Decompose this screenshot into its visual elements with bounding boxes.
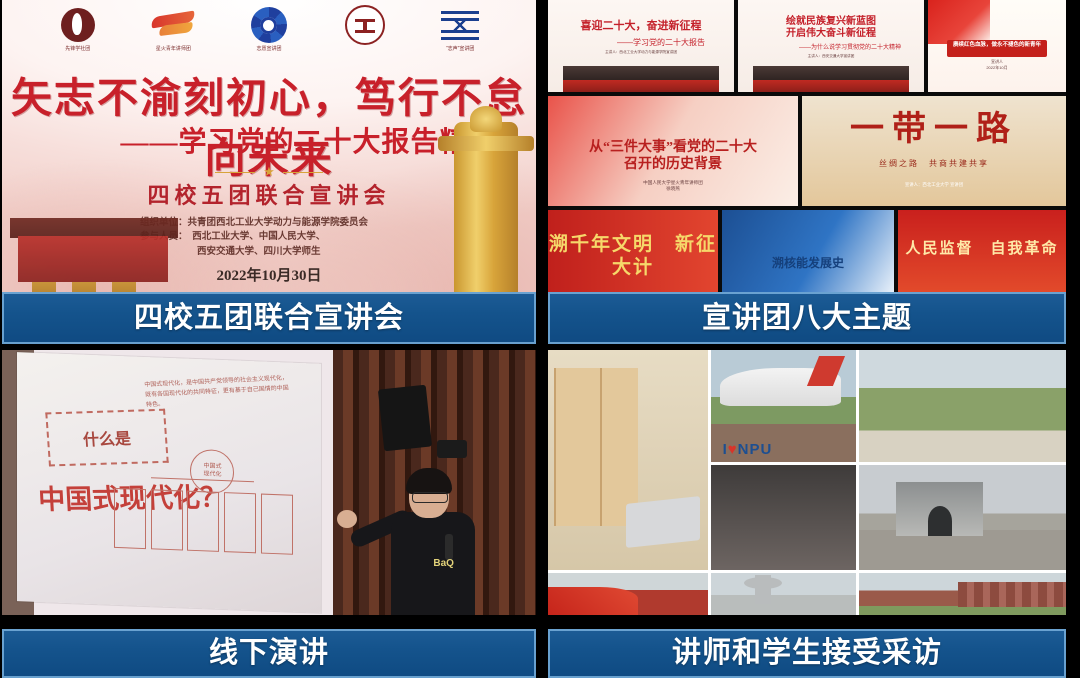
slide-branch-2 <box>151 489 183 550</box>
eight-themes-collage: 喜迎二十大，奋进新征程 ——学习党的二十大报告 主讲人：西北工业大学动力与能源学… <box>548 0 1066 292</box>
slide-branch-3 <box>187 491 219 552</box>
theme-card-3: 赓续红色血脉，做永不褪色的新青年 宣讲人 2022年10月 <box>928 0 1066 92</box>
monument <box>755 575 771 604</box>
theme-card-1: 喜迎二十大，奋进新征程 ——学习党的二十大报告 主讲人：西北工业大学动力与能源学… <box>548 0 734 92</box>
offline-lecture-photo: 什么是 中国式现代化？ 中国式现代化，是中国共产党领导的社会主义现代化，既有各国… <box>2 350 536 615</box>
photo-student-interview-missile <box>859 350 1066 462</box>
interview-photo-collage: I♥NPU <box>548 350 1066 615</box>
panel-bottom-right[interactable]: I♥NPU <box>548 350 1066 678</box>
caption-bar-bottom-right: 讲师和学生接受采访 <box>548 629 1066 678</box>
theme-card-5: 一带一路 丝绸之路 共商共建共享 宣讲人：西北工业大学 宣讲团 <box>802 96 1066 206</box>
logo-renmin-university: 星火青年讲师团 <box>136 6 210 52</box>
slide-tag: 什么是 <box>46 408 169 466</box>
photo-student-selfie-indoor <box>711 465 856 570</box>
panel-top-left[interactable]: 先锋学社团 星火青年讲师团 志愿宣讲团 <box>2 0 536 344</box>
caption-bar-bottom-left: 线下演讲 <box>2 629 536 678</box>
campus-archway <box>896 482 983 537</box>
logo-pioneer-academy: 先锋学社团 <box>41 6 115 52</box>
photo-student-interview-plane: I♥NPU <box>711 350 856 462</box>
slide-branch-4 <box>224 492 256 553</box>
caption-bar-top-right: 宣讲团八大主题 <box>548 292 1066 344</box>
logo-volunteer-corps: 志愿宣讲团 <box>232 6 306 52</box>
projection-screen: 什么是 中国式现代化？ 中国式现代化，是中国共产党领导的社会主义现代化，既有各国… <box>17 352 321 613</box>
logo-zhisheng-corps: “志声”宣讲团 <box>423 6 497 52</box>
slide-note: 中国式现代化，是中国共产党领导的社会主义现代化，既有各国现代化的共同特征，更有基… <box>144 374 292 412</box>
speaker-person: BaQ <box>373 472 499 615</box>
slide-branch-1 <box>114 488 146 549</box>
campus-building <box>958 582 1066 606</box>
stage-light <box>437 440 467 458</box>
red-flag <box>548 587 638 615</box>
npu-sign-overlay: I♥NPU <box>723 441 773 458</box>
laptop <box>626 496 700 548</box>
caption-text-top-right: 宣讲团八大主题 <box>702 304 912 333</box>
china-flag-icon <box>928 0 990 44</box>
huabiao-pillar-illustration <box>454 122 518 292</box>
theme-card-7: 溯核能发展史 <box>722 210 894 292</box>
panel-bottom-left[interactable]: 什么是 中国式现代化？ 中国式现代化，是中国共产党领导的社会主义现代化，既有各国… <box>2 350 536 678</box>
photo-interview-library-desk <box>548 350 708 570</box>
loudspeaker <box>378 385 432 452</box>
gate-illustration <box>753 58 909 92</box>
photo-flag-and-campus-building <box>548 573 708 615</box>
logo-xjtu-seal <box>328 6 402 46</box>
bookshelf <box>554 368 637 526</box>
photo-two-men-talking-campus <box>859 573 1066 615</box>
screenshot-stage: 先锋学社团 星火青年讲师团 志愿宣讲团 <box>0 0 1080 678</box>
caption-bar-top-left: 四校五团联合宣讲会 <box>2 292 536 344</box>
poster-logo-row: 先锋学社团 星火青年讲师团 志愿宣讲团 <box>2 6 536 68</box>
theme-card-2: 绘就民族复兴新蓝图 开启伟大奋斗新征程 ——为什么说学习贯彻党的二十大精神 主讲… <box>738 0 924 92</box>
panel-top-right[interactable]: 喜迎二十大，奋进新征程 ——学习党的二十大报告 主讲人：西北工业大学动力与能源学… <box>548 0 1066 344</box>
caption-text-top-left: 四校五团联合宣讲会 <box>134 304 404 333</box>
tiananmen-illustration <box>2 182 190 292</box>
theme-card-4: 从“三件大事”看党的二十大 召开的历史背景 中国人民大学星火青年讲师团 徐晓燕 <box>548 96 798 206</box>
photo-two-students-campus-gate <box>859 465 1066 570</box>
microphone <box>445 534 453 560</box>
gate-illustration <box>563 58 719 92</box>
caption-text-bottom-left: 线下演讲 <box>209 639 329 668</box>
slide-center-bubble: 中国式 现代化 <box>190 448 234 494</box>
theme-card-6: 溯千年文明 新征大计 <box>548 210 718 292</box>
theme-card-8: 人民监督 自我革命 <box>898 210 1066 292</box>
aircraft-exhibit <box>720 368 842 406</box>
event-poster-image: 先锋学社团 星火青年讲师团 志愿宣讲团 <box>2 0 536 292</box>
slide-branch-5 <box>260 493 292 554</box>
caption-text-bottom-right: 讲师和学生接受采访 <box>672 639 942 668</box>
photo-student-near-monument <box>711 573 856 615</box>
